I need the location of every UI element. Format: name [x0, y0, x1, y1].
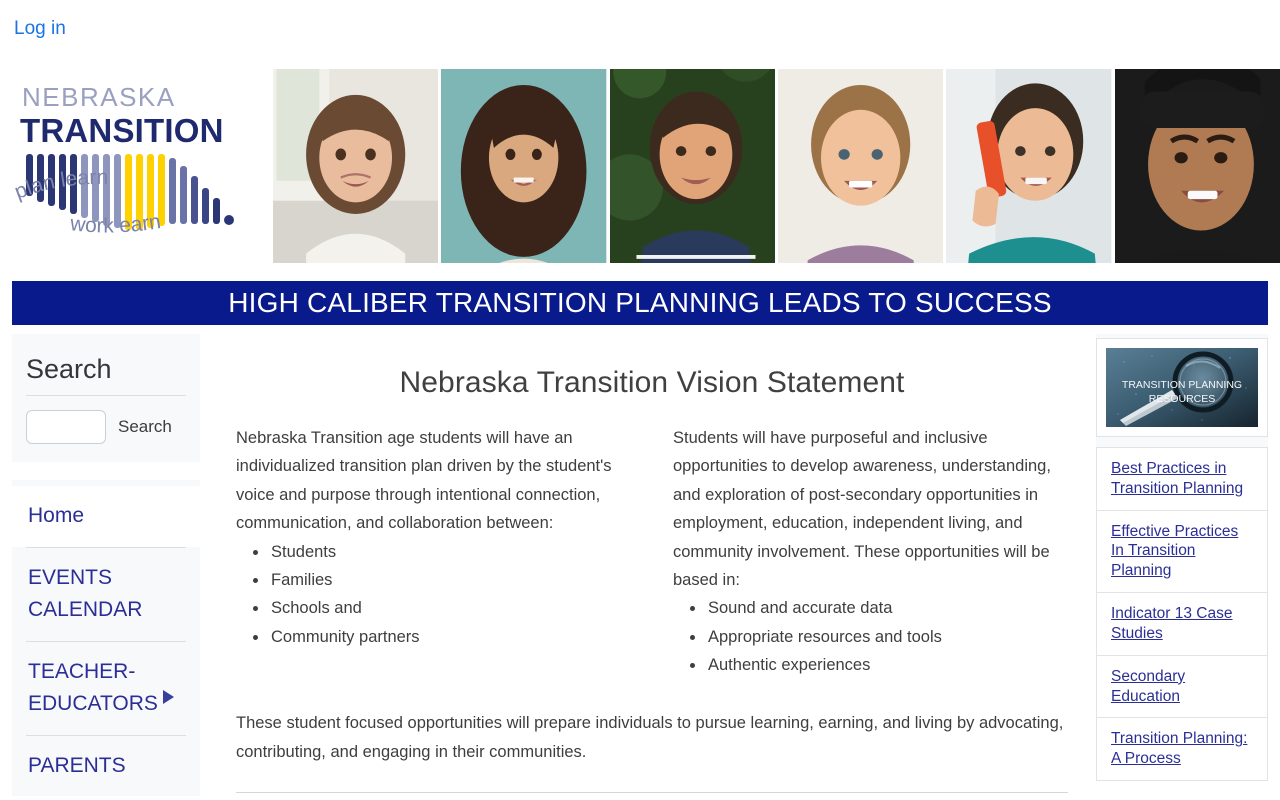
vision-right-bullets: Sound and accurate data Appropriate reso… [673, 594, 1068, 679]
transition-planning-resources-image: TRANSITION PLANNING RESOURCES [1106, 348, 1258, 427]
svg-text:RESOURCES: RESOURCES [1149, 393, 1216, 405]
vision-left-bullets: Students Families Schools and Community … [236, 538, 631, 652]
resource-link-secondary-education[interactable]: Secondary Education [1111, 668, 1185, 705]
header-photo-strip [273, 69, 1280, 263]
header-photo-boy-teal-shirt-phone [946, 69, 1111, 263]
list-item: Sound and accurate data [706, 594, 1068, 622]
nav-item-home[interactable]: Home [12, 486, 200, 547]
list-item[interactable]: Best Practices in Transition Planning [1097, 448, 1267, 510]
nav-item-teacher-educators[interactable]: TEACHER-EDUCATORS [26, 641, 186, 735]
resource-link-card: Transition Planning: A Process [1096, 717, 1268, 781]
search-input[interactable] [26, 410, 106, 444]
list-item[interactable]: Transition Planning: A Process [1097, 718, 1267, 780]
resource-link-card: Effective Practices In Transition Planni… [1096, 510, 1268, 592]
svg-text:NEBRASKA: NEBRASKA [22, 82, 176, 112]
nav-item-events-calendar[interactable]: EVENTS CALENDAR [26, 547, 186, 641]
vision-columns: Nebraska Transition age students will ha… [236, 424, 1068, 679]
right-sidebar: TRANSITION PLANNING RESOURCES Best Pract… [1096, 334, 1268, 781]
list-item: Appropriate resources and tools [706, 623, 1068, 651]
list-item: Schools and [269, 594, 631, 622]
page-title: Nebraska Transition Vision Statement [236, 366, 1068, 400]
site-logo[interactable]: NEBRASKA TRANSITION [8, 72, 248, 252]
header-photo-boy-purple-shirt [778, 69, 943, 263]
main-navigation: Home EVENTS CALENDAR TEACHER-EDUCATORS P… [12, 480, 200, 796]
svg-text:TRANSITION PLANNING: TRANSITION PLANNING [1122, 379, 1242, 391]
header-photo-teen-girl-teal-backdrop [441, 69, 606, 263]
list-item: Community partners [269, 623, 631, 651]
page-layout: Search Search Home EVENTS CALENDAR TEACH… [0, 325, 1280, 794]
vision-column-left: Nebraska Transition age students will ha… [236, 424, 631, 679]
list-item[interactable]: Secondary Education [1097, 656, 1267, 718]
right-sidebar-inner: TRANSITION PLANNING RESOURCES Best Pract… [1096, 334, 1268, 781]
search-block: Search Search [12, 334, 200, 462]
tagline-banner-text: HIGH CALIBER TRANSITION PLANNING LEADS T… [228, 287, 1052, 319]
nav-item-teacher-educators-label: TEACHER-EDUCATORS [28, 660, 158, 716]
list-item[interactable]: Indicator 13 Case Studies [1097, 593, 1267, 655]
left-sidebar: Search Search Home EVENTS CALENDAR TEACH… [12, 334, 200, 796]
vision-column-right: Students will have purposeful and inclus… [673, 424, 1068, 679]
list-item: Families [269, 566, 631, 594]
resource-link-indicator-13-case-studies[interactable]: Indicator 13 Case Studies [1111, 605, 1233, 642]
list-item: Students [269, 538, 631, 566]
nav-item-events-calendar-label: EVENTS CALENDAR [28, 566, 142, 622]
login-link[interactable]: Log in [14, 18, 66, 39]
submenu-arrow-icon[interactable] [163, 690, 174, 704]
nav-item-parents[interactable]: PARENTS [26, 735, 186, 797]
resource-link-card: Secondary Education [1096, 655, 1268, 718]
nav-item-home-label: Home [28, 504, 84, 527]
svg-text:TRANSITION: TRANSITION [20, 112, 224, 149]
header-photo-young-man-black-beanie [1115, 69, 1280, 263]
main-content: Nebraska Transition Vision Statement Neb… [200, 334, 1096, 793]
resource-link-best-practices[interactable]: Best Practices in Transition Planning [1111, 460, 1243, 497]
search-button[interactable]: Search [118, 417, 172, 437]
site-header: NEBRASKA TRANSITION [0, 60, 1280, 265]
header-photo-young-man-striped-shirt [610, 69, 775, 263]
search-row: Search [26, 410, 186, 444]
resource-link-card: Indicator 13 Case Studies [1096, 592, 1268, 655]
vision-left-paragraph: Nebraska Transition age students will ha… [236, 424, 631, 538]
nav-item-parents-label: PARENTS [28, 754, 126, 777]
promo-card[interactable]: TRANSITION PLANNING RESOURCES [1096, 338, 1268, 437]
tagline-banner: HIGH CALIBER TRANSITION PLANNING LEADS T… [12, 281, 1268, 325]
content-divider [236, 792, 1068, 793]
top-bar: Log in [0, 0, 1280, 60]
search-heading: Search [26, 354, 186, 396]
header-photo-young-woman-white-tshirt [273, 69, 438, 263]
resource-link-effective-practices[interactable]: Effective Practices In Transition Planni… [1111, 523, 1238, 580]
resource-link-transition-planning-a-process[interactable]: Transition Planning: A Process [1111, 730, 1247, 767]
vision-closing-paragraph: These student focused opportunities will… [236, 709, 1068, 766]
list-item: Authentic experiences [706, 651, 1068, 679]
vision-right-paragraph: Students will have purposeful and inclus… [673, 424, 1068, 594]
list-item[interactable]: Effective Practices In Transition Planni… [1097, 511, 1267, 592]
resource-link-card: Best Practices in Transition Planning [1096, 447, 1268, 510]
